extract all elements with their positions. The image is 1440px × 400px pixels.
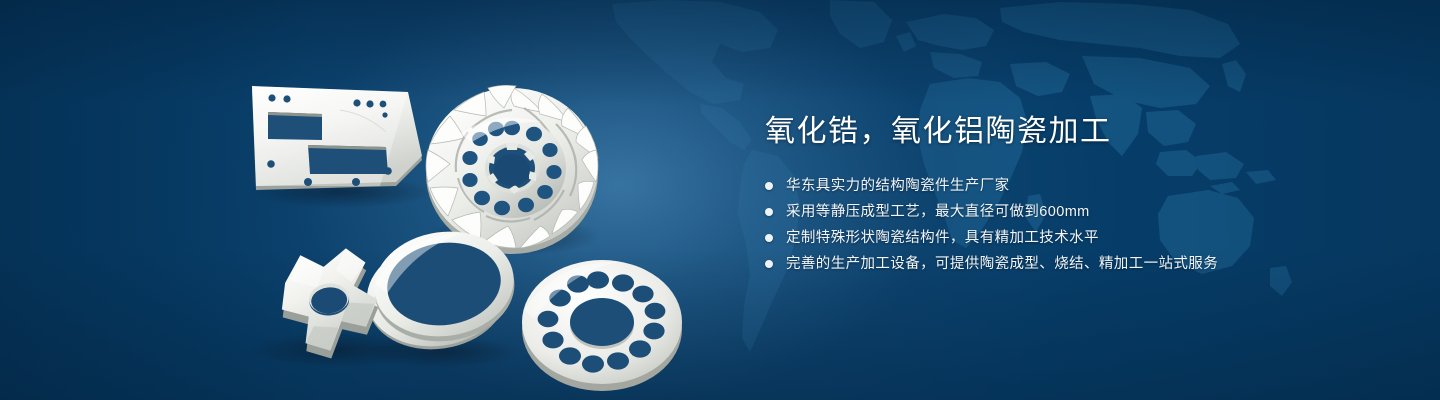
list-item: 采用等静压成型工艺，最大直径可做到600mm [765, 201, 1325, 223]
feature-text: 采用等静压成型工艺，最大直径可做到600mm [786, 201, 1090, 223]
ceramic-parts-photo [230, 40, 720, 380]
ceramic-rectangular-plate [252, 86, 422, 190]
list-item: 完善的生产加工设备，可提供陶瓷成型、烧结、精加工一站式服务 [765, 253, 1325, 275]
feature-list: 华东具实力的结构陶瓷件生产厂家 采用等静压成型工艺，最大直径可做到600mm 定… [765, 175, 1325, 275]
list-item: 定制特殊形状陶瓷结构件，具有精加工技术水平 [765, 227, 1325, 249]
page-title: 氧化锆，氧化铝陶瓷加工 [765, 112, 1325, 152]
bullet-dot-icon [765, 182, 773, 190]
feature-text: 完善的生产加工设备，可提供陶瓷成型、烧结、精加工一站式服务 [786, 253, 1218, 275]
feature-text: 华东具实力的结构陶瓷件生产厂家 [786, 175, 1010, 197]
feature-text: 定制特殊形状陶瓷结构件，具有精加工技术水平 [786, 227, 1099, 249]
list-item: 华东具实力的结构陶瓷件生产厂家 [765, 175, 1325, 197]
ceramic-impeller-wheel [426, 85, 598, 254]
bullet-dot-icon [765, 234, 773, 242]
hero-banner: 氧化锆，氧化铝陶瓷加工 华东具实力的结构陶瓷件生产厂家 采用等静压成型工艺，最大… [0, 0, 1440, 400]
bullet-dot-icon [765, 208, 773, 216]
ceramic-perforated-disc [522, 260, 682, 391]
bullet-dot-icon [765, 260, 773, 268]
banner-text-block: 氧化锆，氧化铝陶瓷加工 华东具实力的结构陶瓷件生产厂家 采用等静压成型工艺，最大… [765, 112, 1325, 279]
